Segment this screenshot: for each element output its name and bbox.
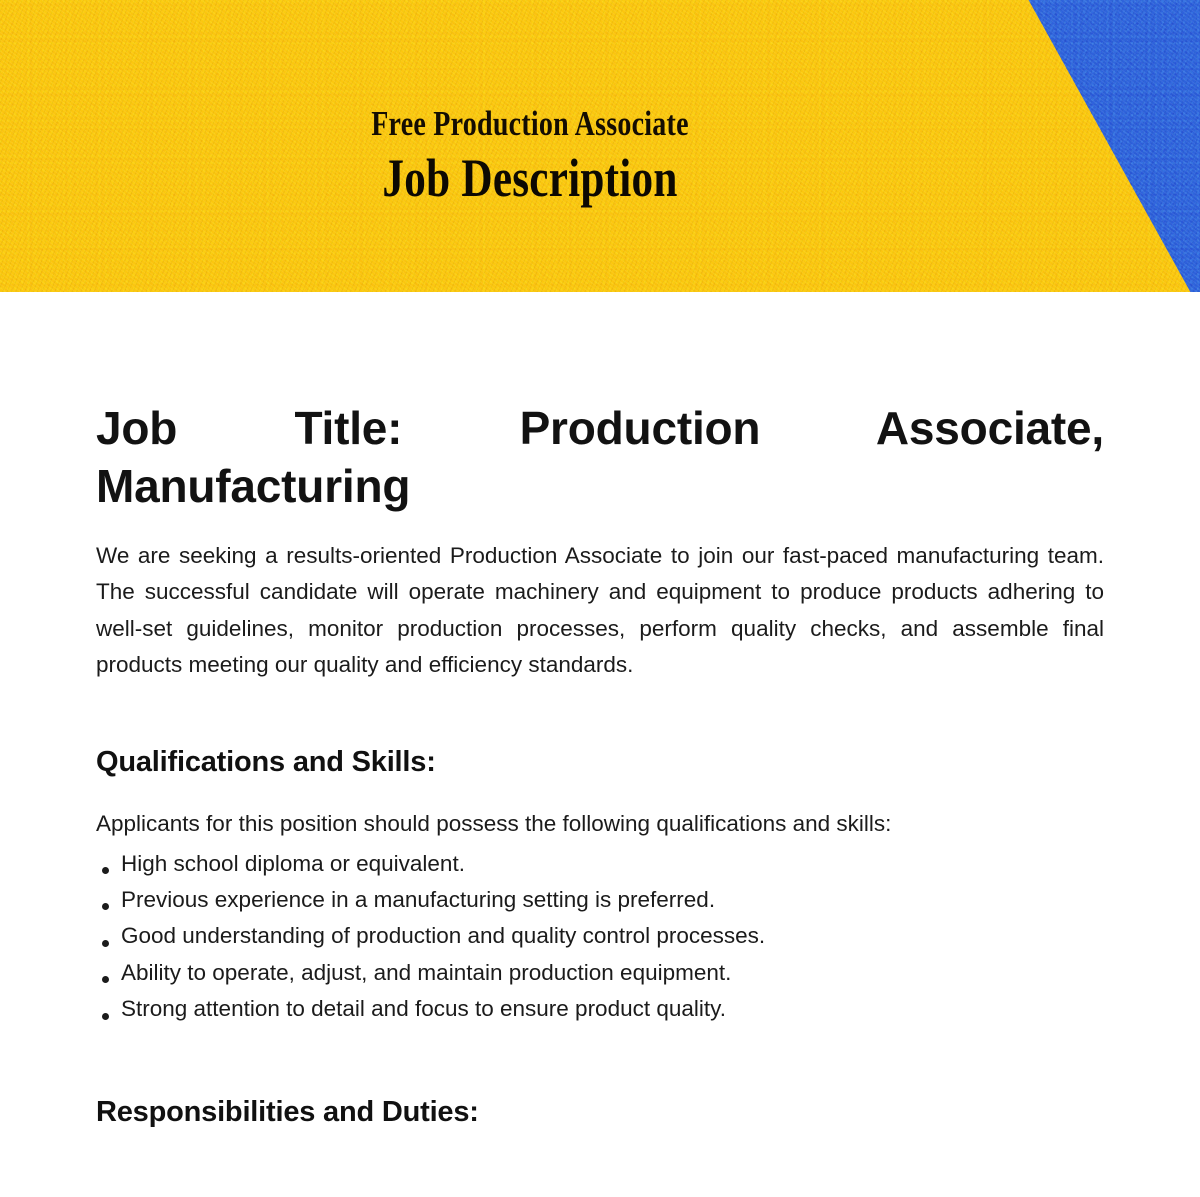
- list-item-label: Strong attention to detail and focus to …: [121, 996, 726, 1021]
- list-item: Previous experience in a manufacturing s…: [96, 882, 1104, 918]
- bullet-dot-icon: [102, 903, 109, 910]
- qualifications-lead-in: Applicants for this position should poss…: [96, 807, 1104, 842]
- bullet-dot-icon: [102, 867, 109, 874]
- header-banner: Free Production Associate Job Descriptio…: [0, 0, 1200, 292]
- list-item-label: Previous experience in a manufacturing s…: [121, 887, 715, 912]
- list-item: Ability to operate, adjust, and maintain…: [96, 955, 1104, 991]
- banner-text-group: Free Production Associate Job Descriptio…: [0, 106, 1060, 207]
- banner-title: Job Description: [106, 149, 954, 207]
- page-title: Job Title: Production Associate, Manufac…: [96, 400, 1104, 516]
- list-item: High school diploma or equivalent.: [96, 846, 1104, 882]
- list-item-label: Ability to operate, adjust, and maintain…: [121, 960, 731, 985]
- banner-subtitle: Free Production Associate: [106, 106, 954, 143]
- bullet-dot-icon: [102, 940, 109, 947]
- qualifications-list: High school diploma or equivalent. Previ…: [96, 846, 1104, 1028]
- intro-paragraph: We are seeking a results-oriented Produc…: [96, 538, 1104, 684]
- list-item: Good understanding of production and qua…: [96, 918, 1104, 954]
- document-body: Job Title: Production Associate, Manufac…: [0, 400, 1200, 1129]
- bullet-dot-icon: [102, 976, 109, 983]
- section-heading-responsibilities: Responsibilities and Duties:: [96, 1096, 1104, 1129]
- bullet-dot-icon: [102, 1013, 109, 1020]
- list-item-label: High school diploma or equivalent.: [121, 851, 465, 876]
- list-item: Strong attention to detail and focus to …: [96, 991, 1104, 1027]
- list-item-label: Good understanding of production and qua…: [121, 923, 765, 948]
- section-heading-qualifications: Qualifications and Skills:: [96, 746, 1104, 779]
